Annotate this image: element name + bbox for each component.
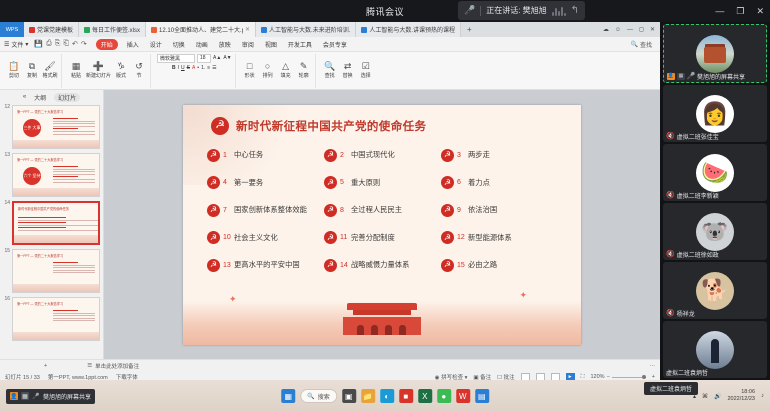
hammer-sickle-icon: ☭	[207, 176, 220, 189]
layout-button[interactable]: ♑ 版式	[113, 62, 129, 79]
slide-item-number: 13	[223, 262, 231, 269]
participant-tile[interactable]: 🔇 杨祥龙	[663, 262, 767, 319]
thumbnail-number: 16	[3, 297, 10, 303]
view-sorter-button[interactable]	[536, 373, 545, 380]
gate-arch	[385, 325, 392, 335]
edge-icon[interactable]: ◐	[380, 389, 394, 403]
hammer-sickle-icon: ☭	[324, 231, 337, 244]
thumbnail-title: 第一PPT — 党的二十大报告学习	[17, 109, 63, 114]
wps-ribbon: 📋 剪切 ⧉ 复制 🖌 格式刷 ▦ 粘贴 ➕	[0, 52, 660, 90]
ribbon-tab-developer[interactable]: 开发工具	[286, 39, 314, 50]
ribbon-tabs: 开始 插入 设计 切换 动画 放映 审阅 视图 开发工具 会员专享	[96, 39, 349, 50]
mic-icon[interactable]: 🎤	[32, 392, 40, 400]
slide-item[interactable]: ☭ 1 中心任务	[207, 149, 324, 162]
ribbon-tab-insert[interactable]: 插入	[125, 39, 141, 50]
fill-icon: △	[282, 62, 289, 71]
maximize-button[interactable]: ❐	[736, 6, 744, 17]
ribbon-group-slides: ▦ 粘贴 ➕ 新建幻灯片 ♑ 版式 ↺ 节	[65, 54, 151, 88]
participant-footer: 🔇 虚拟二班李新颖	[663, 189, 767, 201]
file-explorer-icon[interactable]: 📁	[361, 389, 375, 403]
tab-outline[interactable]: 大纲	[34, 93, 46, 102]
slide-item[interactable]: ☭ 9 依法治国	[441, 204, 558, 217]
thumbnail-row[interactable]: 12 第一PPT — 党的二十大报告学习 三件 大事	[0, 103, 103, 151]
grid-icon: ▦	[72, 62, 81, 71]
file-icon	[84, 27, 90, 33]
font-family-select[interactable]: 微软雅黑	[157, 54, 195, 63]
tiananmen-illustration	[343, 303, 421, 337]
current-slide[interactable]: ☭ 新时代新征程中国共产党的使命任务 ☭ 1 中心任务 ☭	[183, 105, 581, 345]
document-tab[interactable]: 人工智能与大数.未来进阶培训.	[256, 22, 356, 37]
audio-wave-icon	[552, 6, 566, 16]
chevron-down-icon: ▾	[25, 41, 28, 48]
participant-name: 虚拟二班袁炳哲	[666, 368, 708, 377]
new-slide-button[interactable]: ➕ 新建幻灯片	[86, 62, 111, 79]
paste-group-label: 粘贴	[71, 72, 81, 79]
participant-footer: 🔇 杨祥龙	[663, 307, 767, 319]
file-icon	[29, 27, 35, 33]
thumbnail-text-lines	[53, 310, 95, 323]
slide-item-number: 5	[340, 179, 348, 186]
close-button[interactable]: ✕	[650, 26, 655, 33]
slide-thumbnail[interactable]: 第一PPT — 党的二十大报告学习 三件 大事	[12, 105, 100, 149]
search-icon: 🔍	[631, 41, 638, 48]
status-bar-right: ◉ 拼写检查 ▾ ▣ 备注 ☐ 批注 ► ⛶ 120% − +	[435, 373, 655, 380]
slide-item-label: 新型能源体系	[468, 233, 512, 243]
slide-item-number: 1	[223, 152, 231, 159]
person-icon: 👤	[10, 392, 18, 400]
ribbon-group-editing: 🔍 查找 ⇄ 替换 ☑ 选择	[319, 54, 377, 88]
document-tab-label: 人工智能与大数.讲课预热的课程	[369, 25, 455, 34]
more-options-icon[interactable]: ···	[650, 363, 661, 369]
wps-window-controls: ☁ ☺ — ◻ ✕	[603, 22, 660, 37]
ribbon-search[interactable]: 🔍 查找	[631, 40, 657, 49]
hammer-sickle-icon: ☭	[207, 204, 220, 217]
wps-notes-bar[interactable]: + ☰ 单击此处添加备注 ···	[0, 359, 660, 371]
thumbnail-number: 13	[3, 153, 10, 159]
layout-icon: ♑	[117, 62, 125, 71]
slide-thumbnail[interactable]: 第一PPT — 党的二十大报告学习	[12, 297, 100, 341]
bold-button[interactable]: B	[172, 65, 176, 71]
increase-font-icon[interactable]: A▲	[213, 55, 221, 61]
document-tab[interactable]: 每日工作便签.xlsx	[79, 22, 146, 37]
save-icon[interactable]: 💾	[34, 40, 43, 48]
collapse-icon[interactable]: «	[23, 94, 26, 100]
fill-button[interactable]: △ 填充	[278, 62, 294, 79]
thumbnail-title: 第一PPT — 党的二十大报告学习	[17, 157, 63, 162]
participant-tile[interactable]: 🔇 虚拟二班张佳宝	[663, 85, 767, 142]
share-label: 樊旭旭的屏幕共享	[43, 392, 91, 401]
arrange-button[interactable]: ○ 排列	[260, 62, 276, 79]
print-icon[interactable]: ⎙	[46, 40, 52, 48]
participant-tile[interactable]: 虚拟二班袁炳哲	[663, 321, 767, 378]
print-preview-icon[interactable]: ⎘	[55, 40, 61, 48]
thumbnail-panel-header: « 大纲 幻灯片	[0, 91, 103, 103]
slide-thumbnail-selected[interactable]: 新时代新征程中国共产党的使命任务	[12, 201, 100, 245]
slide-item-label: 必由之路	[468, 260, 497, 270]
thumbnail-number: 12	[3, 105, 10, 111]
ribbon-tab-transition[interactable]: 切换	[171, 39, 187, 50]
screen: 腾讯会议 🎤 正在讲话: 樊旭旭 ↰ — ❐ ✕ WPS 党课党建模板	[0, 0, 770, 412]
slide-item-label: 国家创新体系整体效能	[234, 205, 307, 215]
replace-icon: ⇄	[344, 62, 352, 71]
ribbon-tab-member[interactable]: 会员专享	[321, 39, 349, 50]
ribbon-group-font: 微软雅黑 18 A▲ A▼ B I U S A • 1. ≡ ☰	[154, 54, 236, 88]
slide-item[interactable]: ☭ 15 必由之路	[441, 259, 558, 272]
participant-footer: 🔇 虚拟二班徐如政	[663, 248, 767, 260]
clock-date: 2022/12/23	[727, 396, 755, 403]
thumbnail-title: 第一PPT — 党的二十大报告学习	[17, 253, 63, 258]
slide-item[interactable]: ☭ 5 重大原则	[324, 176, 441, 189]
taskbar-right: ▴ ⌘ 🔊 18:06 2022/12/23 ♪	[693, 389, 764, 402]
slide-item-label: 更高水平的平安中国	[234, 260, 300, 270]
replace-label: 替换	[343, 72, 353, 79]
thumbnail-number: 14	[3, 201, 10, 207]
participant-name: 杨祥龙	[677, 309, 695, 318]
hammer-sickle-icon: ☭	[441, 259, 454, 272]
mic-off-icon: 🔇	[666, 191, 675, 199]
avatar	[696, 35, 734, 73]
participant-rail: 👤 ▦ 🎤 樊旭旭的屏幕共享 🔇 虚拟二班张佳宝 🔇 虚拟二班李新颖 �	[660, 22, 770, 380]
wps-ribbon-menubar: ☰ 文件 ▾ 💾 ⎙ ⎘ ⎗ ↶ ↷ 开始 插入 设计 切换 动画 放映 审阅 …	[0, 37, 660, 52]
shape-button[interactable]: □ 形状	[242, 62, 258, 79]
participant-name: 虚拟二班徐如政	[677, 250, 719, 259]
new-tab-button[interactable]: +	[461, 22, 478, 37]
slide-item-number: 14	[340, 262, 348, 269]
ribbon-tab-animation[interactable]: 动画	[194, 39, 210, 50]
thumbnail-number: 15	[3, 249, 10, 255]
wps-window: WPS 党课党建模板 每日工作便签.xlsx 12.10全面推动人、建党二十大.…	[0, 22, 660, 380]
italic-button[interactable]: I	[178, 65, 179, 71]
strikethrough-button[interactable]: S	[187, 65, 190, 71]
hammer-sickle-icon: ☭	[207, 231, 220, 244]
minimize-button[interactable]: —	[627, 27, 633, 33]
document-tab-label: 每日工作便签.xlsx	[92, 25, 140, 34]
slide-item-label: 依法治国	[468, 205, 497, 215]
wps-workspace: « 大纲 幻灯片 12 第一PPT — 党的二十大报告学习 三件 大事 13	[0, 90, 660, 359]
file-icon	[261, 27, 267, 33]
menu-icon: ☰	[4, 41, 9, 48]
meeting-title: 腾讯会议	[366, 5, 404, 18]
section-icon: ↺	[135, 62, 143, 71]
taskbar-center: ▦ 🔍 搜索 ▣ 📁 ◐ ■ X ● W ▤	[281, 389, 489, 403]
thumbnail-row[interactable]: 13 第一PPT — 党的二十大报告学习 六个 坚持	[0, 151, 103, 199]
plus-icon: ➕	[93, 62, 104, 71]
slide-item-label: 全过程人民民主	[351, 205, 402, 215]
slide-item-label: 社会主义文化	[234, 233, 278, 243]
slide-thumbnail[interactable]: 第一PPT — 党的二十大报告学习	[12, 249, 100, 293]
close-button[interactable]: ✕	[756, 6, 764, 17]
format-painter-button[interactable]: 🖌 格式刷	[42, 62, 58, 79]
maximize-button[interactable]: ◻	[639, 26, 644, 33]
taskbar-tooltip: 虚拟二班袁炳哲	[644, 382, 698, 395]
participant-tile-screen-share[interactable]: 👤 ▦ 🎤 樊旭旭的屏幕共享	[663, 24, 767, 83]
ribbon-tab-start[interactable]: 开始	[96, 39, 118, 50]
thumbnail-text-lines	[53, 118, 95, 136]
spellcheck-button[interactable]: ◉ 拼写检查 ▾	[435, 373, 468, 380]
undo-icon[interactable]: ↶	[72, 40, 78, 48]
font-size-select[interactable]: 18	[197, 54, 211, 63]
shape-icon: □	[247, 62, 252, 71]
slide-item-label: 中国式现代化	[351, 150, 395, 160]
ribbon-group-clipboard: 📋 剪切 ⧉ 复制 🖌 格式刷	[3, 54, 62, 88]
meeting-icon[interactable]: ▤	[475, 389, 489, 403]
ime-icon[interactable]: ⌘	[702, 393, 708, 400]
slide-decoration: ✦ ✦	[183, 283, 581, 345]
view-slideshow-button[interactable]: ►	[566, 373, 575, 380]
hammer-sickle-icon: ☭	[324, 176, 337, 189]
hammer-sickle-icon: ☭	[207, 149, 220, 162]
slide-canvas-area[interactable]: ☭ 新时代新征程中国共产党的使命任务 ☭ 1 中心任务 ☭	[104, 90, 660, 359]
hammer-sickle-icon: ☭	[324, 259, 337, 272]
hammer-sickle-icon: ☭	[441, 149, 454, 162]
mic-icon: 🎤	[464, 5, 475, 16]
ribbon-tab-view[interactable]: 视图	[263, 39, 279, 50]
ribbon-tab-design[interactable]: 设计	[148, 39, 164, 50]
thumbnail-footer-art	[14, 235, 98, 243]
avatar	[696, 272, 734, 310]
account-icon[interactable]: ☺	[615, 27, 621, 33]
thumbnail-footer-art	[13, 284, 99, 292]
slide-item[interactable]: ☭ 6 着力点	[441, 176, 558, 189]
align-center-button[interactable]: ☰	[212, 65, 216, 71]
slide-item[interactable]: ☭ 7 国家创新体系整体效能	[207, 204, 324, 217]
slide-item-number: 3	[457, 152, 465, 159]
copy-button[interactable]: ⧉ 复制	[24, 62, 40, 79]
arrange-icon: ○	[265, 62, 270, 71]
thumbnail-row[interactable]: 16 第一PPT — 党的二十大报告学习	[0, 295, 103, 343]
paste-group-button[interactable]: ▦ 粘贴	[68, 62, 84, 79]
minimize-button[interactable]: —	[715, 6, 724, 16]
file-menu-button[interactable]: ☰ 文件 ▾	[4, 40, 28, 49]
screen-share-bar[interactable]: 👤 ▦ 🎤 樊旭旭的屏幕共享	[6, 389, 95, 404]
excel-icon[interactable]: X	[418, 389, 432, 403]
view-normal-button[interactable]	[521, 373, 530, 380]
gate-arch	[357, 325, 364, 335]
shape-label: 形状	[245, 72, 255, 79]
section-button[interactable]: ↺ 节	[131, 62, 147, 79]
thumbnail-row[interactable]: 14 新时代新征程中国共产党的使命任务	[0, 199, 103, 247]
slide-item-number: 15	[457, 262, 465, 269]
align-left-button[interactable]: ≡	[207, 65, 210, 71]
divider	[480, 6, 481, 16]
notes-icon: ☰	[87, 363, 92, 369]
slide-item-label: 着力点	[468, 178, 490, 188]
paste-label: 剪切	[9, 72, 19, 79]
add-slide-button[interactable]: +	[0, 363, 47, 369]
slide-items-row: ☭ 10 社会主义文化 ☭ 11 完善分配制度 ☭ 12	[207, 231, 559, 244]
bell-icon[interactable]: ♪	[761, 393, 764, 399]
close-icon[interactable]: ✕	[245, 26, 250, 33]
arrange-label: 排列	[263, 72, 273, 79]
format-painter-label: 格式刷	[42, 72, 57, 79]
gate-roof	[347, 303, 417, 310]
notes-toggle[interactable]: ▣ 备注	[473, 373, 491, 380]
new-slide-label: 新建幻灯片	[86, 72, 111, 79]
gate-base	[343, 317, 421, 335]
back-arrow-icon[interactable]: ↰	[571, 5, 579, 16]
thumbnail-title: 第一PPT — 党的二十大报告学习	[17, 301, 63, 306]
screen-icon: ▦	[21, 392, 29, 400]
slide-items-row: ☭ 4 第一要务 ☭ 5 重大原则 ☭ 6	[207, 176, 559, 189]
hammer-sickle-icon: ☭	[441, 231, 454, 244]
thumbnail-row[interactable]: 15 第一PPT — 党的二十大报告学习	[0, 247, 103, 295]
thumbnail-seal: 三件 大事	[23, 119, 41, 137]
font-row-2: B I U S A • 1. ≡ ☰	[172, 65, 217, 71]
file-menu-label: 文件	[11, 40, 23, 49]
screen-share-icon: ▦	[677, 73, 685, 80]
chrome-icon[interactable]: ●	[437, 389, 451, 403]
participant-footer: 虚拟二班袁炳哲	[663, 366, 767, 378]
slide-item-label: 两步走	[468, 150, 490, 160]
taskbar-left: 👤 ▦ 🎤 樊旭旭的屏幕共享	[6, 389, 95, 404]
participant-name: 樊旭旭的屏幕共享	[697, 72, 745, 81]
meeting-titlebar: 腾讯会议 🎤 正在讲话: 樊旭旭 ↰ — ❐ ✕	[0, 0, 770, 22]
underline-button[interactable]: U	[181, 65, 185, 71]
slide-thumbnail[interactable]: 第一PPT — 党的二十大报告学习 六个 坚持	[12, 153, 100, 197]
quick-access-toolbar[interactable]: 💾 ⎙ ⎘ ⎗ ↶ ↷	[34, 40, 86, 48]
avatar	[696, 331, 734, 369]
slide-items-grid: ☭ 1 中心任务 ☭ 2 中国式现代化 ☭ 3	[207, 149, 559, 287]
slide-item[interactable]: ☭ 10 社会主义文化	[207, 231, 324, 244]
slide-item-label: 重大原则	[351, 178, 380, 188]
wps-icon[interactable]: W	[456, 389, 470, 403]
thumbnail-seal: 六个 坚持	[23, 167, 41, 185]
file-icon	[361, 27, 367, 33]
outline-button[interactable]: ✎ 轮廓	[296, 62, 312, 79]
font-color-button[interactable]: A	[192, 65, 195, 71]
notes-placeholder[interactable]: 单击此处添加备注	[95, 362, 139, 370]
slide-item[interactable]: ☭ 12 新型能源体系	[441, 231, 558, 244]
search-icon: 🔍	[324, 62, 335, 71]
wps-pdf-icon[interactable]: ■	[399, 389, 413, 403]
slide-title: 新时代新征程中国共产党的使命任务	[236, 118, 426, 134]
participant-tile[interactable]: 🔇 虚拟二班徐如政	[663, 203, 767, 260]
hammer-sickle-icon: ☭	[441, 176, 454, 189]
gate-arch	[371, 325, 378, 335]
document-tab-label: 人工智能与大数.未来进阶培训.	[269, 25, 350, 34]
participant-tile[interactable]: 🔇 虚拟二班李新颖	[663, 144, 767, 201]
slide-thumbnail-panel[interactable]: « 大纲 幻灯片 12 第一PPT — 党的二十大报告学习 三件 大事 13	[0, 90, 104, 359]
slide-items-row: ☭ 13 更高水平的平安中国 ☭ 14 战略威慑力量体系 ☭	[207, 259, 559, 272]
clock-time: 18:06	[741, 389, 755, 396]
ribbon-group-drawing: □ 形状 ○ 排列 △ 填充 ✎ 轮廓	[239, 54, 316, 88]
slide-item-label: 第一要务	[234, 178, 263, 188]
document-tab[interactable]: 党课党建模板	[24, 22, 79, 37]
host-icon: 👤	[667, 73, 675, 80]
slide-items-row: ☭ 1 中心任务 ☭ 2 中国式现代化 ☭ 3	[207, 149, 559, 162]
hammer-sickle-icon: ☭	[207, 259, 220, 272]
document-tab[interactable]: 人工智能与大数.讲课预热的课程	[356, 22, 461, 37]
zoom-track[interactable]	[612, 377, 646, 378]
slide-item-number: 9	[457, 207, 465, 214]
slide-item-number: 11	[340, 234, 348, 241]
thumbnail-text-lines	[53, 166, 95, 184]
section-label: 节	[137, 72, 142, 79]
slide-items-row: ☭ 7 国家创新体系整体效能 ☭ 8 全过程人民民主 ☭	[207, 204, 559, 217]
hammer-sickle-icon: ☭	[211, 117, 229, 135]
wps-status-bar: 幻灯片 15 / 33 第一PPT, www.1ppt.com 下载字体 ◉ 拼…	[0, 371, 660, 380]
slide-item[interactable]: ☭ 13 更高水平的平安中国	[207, 259, 324, 272]
replace-button[interactable]: ⇄ 替换	[340, 62, 356, 79]
slide-item-number: 12	[457, 234, 465, 241]
copy-label: 复制	[27, 72, 37, 79]
thumbnail-text-lines	[18, 217, 98, 233]
document-tab-active[interactable]: 12.10全面推动人、建党二十大.pptx ✕	[146, 22, 256, 37]
cloud-icon[interactable]: ☁	[603, 26, 609, 33]
participant-footer: 👤 ▦ 🎤 樊旭旭的屏幕共享	[664, 70, 766, 82]
zoom-knob[interactable]	[642, 375, 646, 379]
ribbon-tab-review[interactable]: 审阅	[240, 39, 256, 50]
mic-off-icon: 🔇	[666, 250, 675, 258]
slide-item-label: 中心任务	[234, 150, 263, 160]
search-box[interactable]: 🔍 搜索	[300, 389, 337, 403]
bullet-list-button[interactable]: •	[197, 65, 199, 71]
layout-label: 版式	[116, 72, 126, 79]
numbered-list-button[interactable]: 1.	[201, 65, 205, 71]
avatar	[696, 154, 734, 192]
wps-logo[interactable]: WPS	[0, 22, 24, 37]
clock[interactable]: 18:06 2022/12/23	[727, 389, 755, 402]
task-view-icon[interactable]: ▣	[342, 389, 356, 403]
document-tab-label: 党课党建模板	[37, 25, 73, 34]
thumbnail-footer-art	[13, 332, 99, 340]
speaking-label: 正在讲话: 樊旭旭	[486, 5, 546, 16]
tab-slides[interactable]: 幻灯片	[54, 93, 80, 102]
participant-footer: 🔇 虚拟二班张佳宝	[663, 130, 767, 142]
meeting-window-controls: — ❐ ✕	[715, 0, 764, 22]
slide-item[interactable]: ☭ 8 全过程人民民主	[324, 204, 441, 217]
slide-item[interactable]: ☭ 14 战略威慑力量体系	[324, 259, 441, 272]
slide-item-label: 战略威慑力量体系	[351, 260, 409, 270]
view-reading-button[interactable]	[551, 373, 560, 380]
thumbnail-footer-art	[13, 140, 99, 148]
slide-item[interactable]: ☭ 3 两步走	[441, 149, 558, 162]
select-button[interactable]: ☑ 选择	[358, 62, 374, 79]
thumbnail-text-lines	[53, 262, 95, 275]
search-placeholder: 搜索	[318, 392, 330, 401]
mic-on-icon: 🎤	[687, 73, 695, 80]
thumbnail-footer-art	[13, 188, 99, 196]
find-button[interactable]: 🔍 查找	[322, 62, 338, 79]
participant-name: 虚拟二班张佳宝	[677, 132, 719, 141]
ribbon-tab-slideshow[interactable]: 放映	[217, 39, 233, 50]
download-font-link[interactable]: 下载字体	[116, 373, 138, 380]
paste-button[interactable]: 📋 剪切	[6, 62, 22, 79]
search-icon: 🔍	[307, 393, 314, 400]
mic-off-icon: 🔇	[666, 309, 675, 317]
slide-item[interactable]: ☭ 11 完善分配制度	[324, 231, 441, 244]
windows-start-icon[interactable]: ▦	[281, 389, 295, 403]
search-label: 查找	[640, 40, 652, 49]
decrease-font-icon[interactable]: A▼	[223, 55, 231, 61]
thumbnail-title: 新时代新征程中国共产党的使命任务	[18, 206, 69, 211]
find-label: 查找	[325, 72, 335, 79]
comment-toggle[interactable]: ☐ 批注	[497, 373, 514, 380]
font-row-1: 微软雅黑 18 A▲ A▼	[157, 54, 232, 63]
template-source: 第一PPT, www.1ppt.com	[48, 373, 108, 380]
export-pdf-icon[interactable]: ⎗	[63, 40, 69, 48]
slide-item-number: 7	[223, 207, 231, 214]
participant-name: 虚拟二班李新颖	[677, 191, 719, 200]
avatar	[696, 213, 734, 251]
firework-icon: ✦	[519, 290, 527, 301]
redo-icon[interactable]: ↷	[81, 40, 87, 48]
volume-icon[interactable]: 🔊	[714, 393, 721, 400]
select-label: 选择	[361, 72, 371, 79]
slide-item[interactable]: ☭ 4 第一要务	[207, 176, 324, 189]
speaking-indicator[interactable]: 🎤 正在讲话: 樊旭旭 ↰	[458, 1, 585, 20]
slide-item[interactable]: ☭ 2 中国式现代化	[324, 149, 441, 162]
